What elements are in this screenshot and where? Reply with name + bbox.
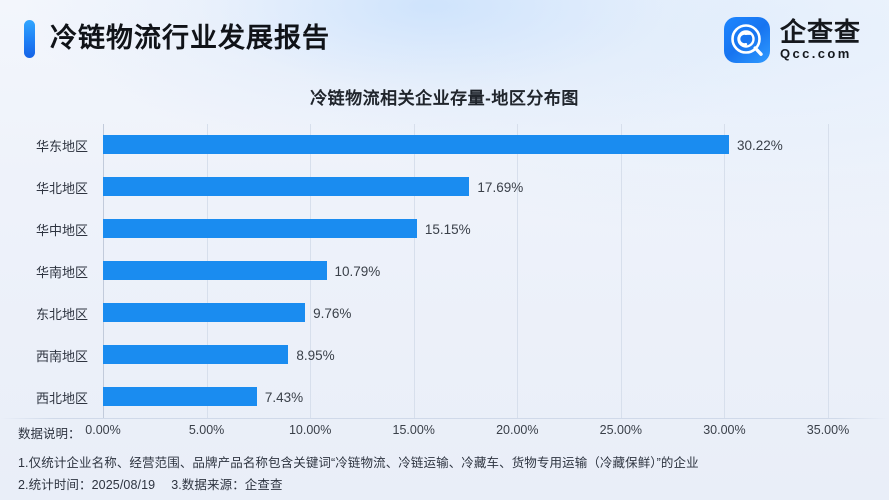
x-tick-label: 25.00% xyxy=(600,423,642,437)
bar[interactable] xyxy=(103,345,288,364)
bar[interactable] xyxy=(103,219,417,238)
chart-x-axis: 0.00%5.00%10.00%15.00%20.00%25.00%30.00%… xyxy=(0,418,889,442)
chart-title: 冷链物流相关企业存量-地区分布图 xyxy=(0,84,889,109)
bar-value-label: 30.22% xyxy=(737,124,783,166)
bar-value-label: 7.43% xyxy=(265,376,303,418)
footer-data-source: 3.数据来源：企查查 xyxy=(171,478,282,492)
bar[interactable] xyxy=(103,177,469,196)
bar-value-label: 10.79% xyxy=(335,250,381,292)
chart-row: 东北地区9.76% xyxy=(0,292,889,334)
bar-value-label: 15.15% xyxy=(425,208,471,250)
chart-row: 华东地区30.22% xyxy=(0,124,889,166)
bar-value-label: 17.69% xyxy=(477,166,523,208)
category-label: 东北地区 xyxy=(0,292,88,334)
x-tick-label: 35.00% xyxy=(807,423,849,437)
report-page: 冷链物流行业发展报告 企查查 Qcc.com 冷链物流相关企业存量-地区分布图 … xyxy=(0,0,889,500)
chart-row: 华北地区17.69% xyxy=(0,166,889,208)
category-label: 华东地区 xyxy=(0,124,88,166)
category-label: 西北地区 xyxy=(0,376,88,418)
category-label: 华北地区 xyxy=(0,166,88,208)
category-label: 西南地区 xyxy=(0,334,88,376)
chart-row: 西南地区8.95% xyxy=(0,334,889,376)
qcc-logo-icon xyxy=(724,17,770,63)
bar-value-label: 8.95% xyxy=(296,334,334,376)
brand-logo: 企查查 Qcc.com xyxy=(724,17,861,63)
footer-note-2: 2.统计时间：2025/08/193.数据来源：企查查 xyxy=(18,474,283,493)
x-tick-label: 0.00% xyxy=(85,423,120,437)
data-note-label: 数据说明： xyxy=(18,423,81,442)
x-tick-label: 10.00% xyxy=(289,423,331,437)
footer-note-1: 1.仅统计企业名称、经营范围、品牌产品名称包含关键词“冷链物流、冷链运输、冷藏车… xyxy=(18,452,699,471)
category-label: 华中地区 xyxy=(0,208,88,250)
brand-wordmark: 企查查 Qcc.com xyxy=(780,19,861,61)
x-tick-label: 20.00% xyxy=(496,423,538,437)
brand-name-cn: 企查查 xyxy=(780,19,861,46)
chart-row: 西北地区7.43% xyxy=(0,376,889,418)
x-tick-label: 30.00% xyxy=(703,423,745,437)
brand-name-en: Qcc.com xyxy=(780,46,861,61)
chart-plot-area: 华东地区30.22%华北地区17.69%华中地区15.15%华南地区10.79%… xyxy=(0,124,889,418)
bar[interactable] xyxy=(103,135,729,154)
footer-stat-time: 2.统计时间：2025/08/19 xyxy=(18,478,155,492)
chart-row: 华中地区15.15% xyxy=(0,208,889,250)
x-tick-label: 15.00% xyxy=(393,423,435,437)
x-tick-label: 5.00% xyxy=(189,423,224,437)
chart-row: 华南地区10.79% xyxy=(0,250,889,292)
bar[interactable] xyxy=(103,387,257,406)
title-accent-bar xyxy=(24,20,35,58)
page-title: 冷链物流行业发展报告 xyxy=(50,18,330,58)
bar[interactable] xyxy=(103,303,305,322)
page-header: 冷链物流行业发展报告 企查查 Qcc.com xyxy=(0,0,889,72)
bar-value-label: 9.76% xyxy=(313,292,351,334)
bar[interactable] xyxy=(103,261,327,280)
category-label: 华南地区 xyxy=(0,250,88,292)
